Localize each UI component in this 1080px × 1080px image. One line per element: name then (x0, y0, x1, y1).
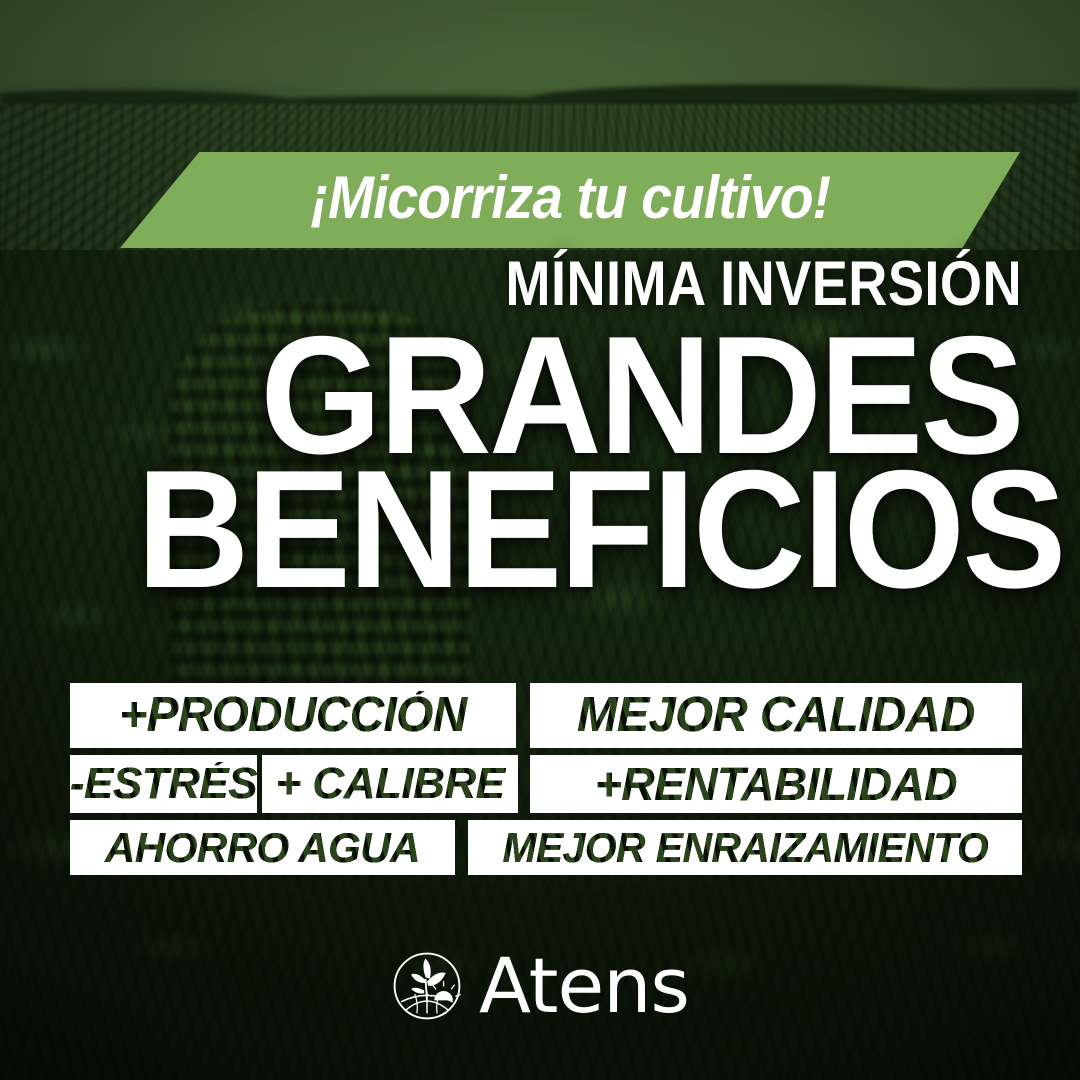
benefit-label: MEJOR CALIDAD (573, 691, 979, 740)
benefit-chip: MEJOR ENRAIZAMIENTO (468, 820, 1022, 875)
benefit-chip: MEJOR CALIDAD (530, 683, 1022, 748)
headline-line-2: BENEFICIOS (137, 456, 1022, 604)
benefits-row-1: +PRODUCCIÓN MEJOR CALIDAD (70, 683, 1022, 748)
promotional-poster: ¡Micorriza tu cultivo! MÍNIMA INVERSIÓN … (0, 0, 1080, 1080)
benefit-label: -ESTRÉS (70, 762, 257, 806)
brand-logo: Atens (0, 948, 1080, 1024)
benefit-label: + CALIBRE (272, 762, 509, 806)
benefit-chip: -ESTRÉS (70, 755, 257, 813)
brand-wordmark: Atens (479, 948, 689, 1024)
benefits-row-3: AHORRO AGUA MEJOR ENRAIZAMIENTO (70, 820, 1022, 875)
benefit-chip: +RENTABILIDAD (530, 755, 1022, 813)
benefit-chip: AHORRO AGUA (70, 820, 455, 875)
atens-plant-globe-sun-icon (391, 950, 463, 1022)
chip-gap (518, 755, 530, 813)
benefit-label: +RENTABILIDAD (591, 761, 961, 807)
headline-block: MÍNIMA INVERSIÓN GRANDES BENEFICIOS (70, 252, 1022, 604)
slogan-text: ¡Micorriza tu cultivo! (310, 168, 830, 232)
benefits-grid: +PRODUCCIÓN MEJOR CALIDAD -ESTRÉS + CALI… (70, 683, 1022, 875)
benefit-label: +PRODUCCIÓN (116, 691, 471, 740)
chip-gap (516, 683, 530, 748)
benefit-chip: +PRODUCCIÓN (70, 683, 516, 748)
slogan-banner: ¡Micorriza tu cultivo! (120, 152, 1020, 248)
benefit-label: AHORRO AGUA (101, 827, 424, 869)
chip-gap (455, 820, 468, 875)
benefit-label: MEJOR ENRAIZAMIENTO (498, 827, 992, 869)
benefit-chip: + CALIBRE (262, 755, 518, 813)
benefits-row-2: -ESTRÉS + CALIBRE +RENTABILIDAD (70, 755, 1022, 813)
